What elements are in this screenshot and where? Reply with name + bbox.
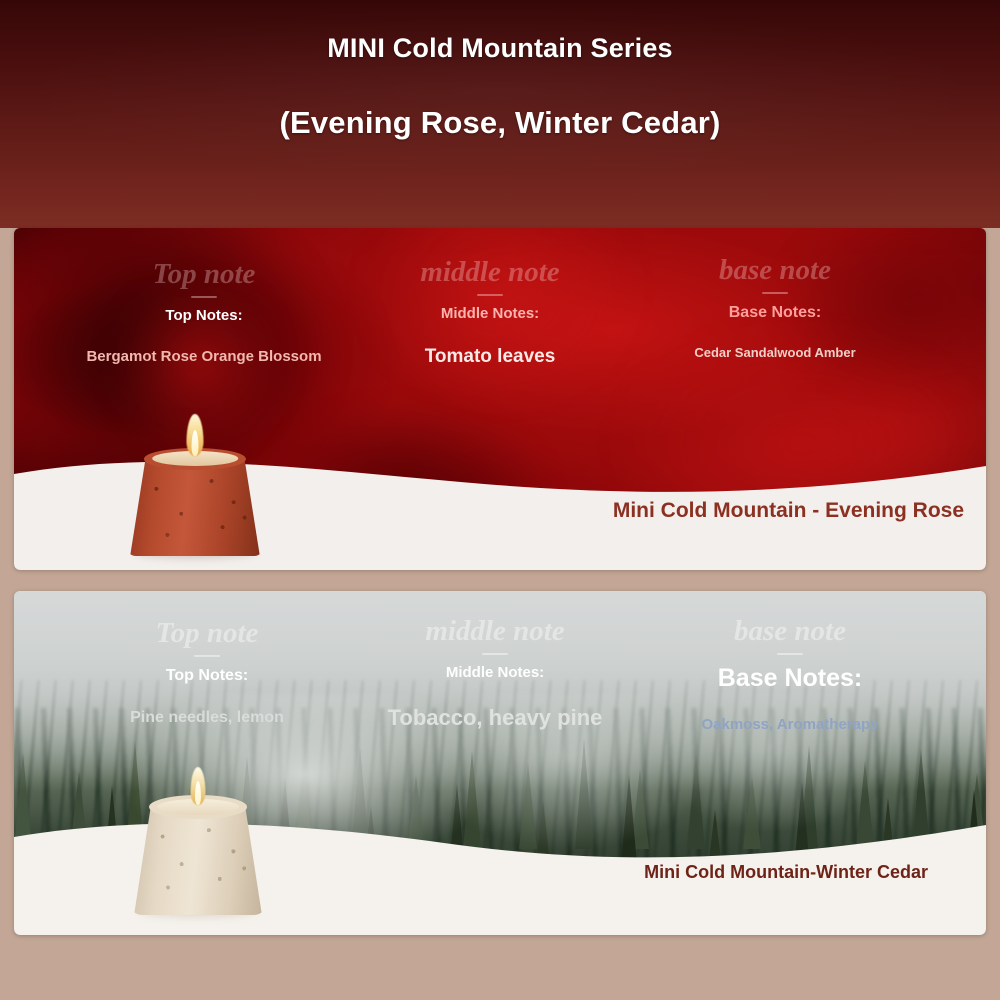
watermark-divider — [477, 294, 503, 296]
note-column-top: Top note Top Notes: Pine needles, lemon — [76, 619, 338, 726]
middle-note-watermark: middle note — [420, 256, 559, 288]
candle-vessel — [126, 460, 264, 556]
winter-cedar-candle-image — [130, 779, 266, 915]
note-column-base: base note Base Notes: Oakmoss, Aromather… — [654, 617, 926, 733]
product-card-winter-cedar[interactable]: Top note Top Notes: Pine needles, lemon … — [14, 591, 986, 935]
middle-notes-value: Tomato leaves — [359, 347, 621, 368]
note-column-top: Top note Top Notes: Bergamot Rose Orange… — [74, 260, 334, 365]
middle-notes-value: Tobacco, heavy pine — [364, 706, 626, 730]
note-column-base: base note Base Notes: Cedar Sandalwood A… — [639, 256, 911, 360]
middle-note-watermark: middle note — [425, 615, 564, 647]
watermark-divider — [777, 653, 803, 655]
page-title: MINI Cold Mountain Series — [0, 33, 1000, 64]
top-notes-value: Bergamot Rose Orange Blossom — [74, 349, 334, 366]
base-notes-value: Cedar Sandalwood Amber — [639, 346, 911, 360]
product-card-evening-rose[interactable]: Top note Top Notes: Bergamot Rose Orange… — [14, 228, 986, 570]
watermark-divider — [191, 296, 217, 298]
watermark-divider — [482, 653, 508, 655]
top-notes-label: Top Notes: — [74, 308, 334, 325]
base-note-watermark: base note — [719, 254, 831, 286]
middle-notes-label: Middle Notes: — [359, 306, 621, 323]
page-subtitle: (Evening Rose, Winter Cedar) — [0, 105, 1000, 141]
base-notes-label: Base Notes: — [654, 665, 926, 693]
note-column-middle: middle note Middle Notes: Tobacco, heavy… — [364, 617, 626, 730]
top-note-watermark: Top note — [156, 617, 259, 649]
top-notes-label: Top Notes: — [76, 667, 338, 685]
base-notes-value: Oakmoss, Aromatherapy — [654, 717, 926, 734]
note-column-middle: middle note Middle Notes: Tomato leaves — [359, 258, 621, 367]
product-name-evening-rose: Mini Cold Mountain - Evening Rose — [613, 499, 964, 523]
product-name-winter-cedar: Mini Cold Mountain-Winter Cedar — [644, 862, 928, 883]
base-note-watermark: base note — [734, 615, 846, 647]
watermark-divider — [762, 292, 788, 294]
product-detail-page: MINI Cold Mountain Series (Evening Rose,… — [0, 0, 1000, 1000]
top-notes-value: Pine needles, lemon — [76, 709, 338, 727]
candle-vessel — [130, 809, 266, 915]
evening-rose-candle-image — [126, 430, 264, 556]
base-notes-label: Base Notes: — [639, 304, 911, 322]
middle-notes-label: Middle Notes: — [364, 665, 626, 682]
top-note-watermark: Top note — [153, 258, 256, 290]
watermark-divider — [194, 655, 220, 657]
page-header: MINI Cold Mountain Series (Evening Rose,… — [0, 0, 1000, 228]
